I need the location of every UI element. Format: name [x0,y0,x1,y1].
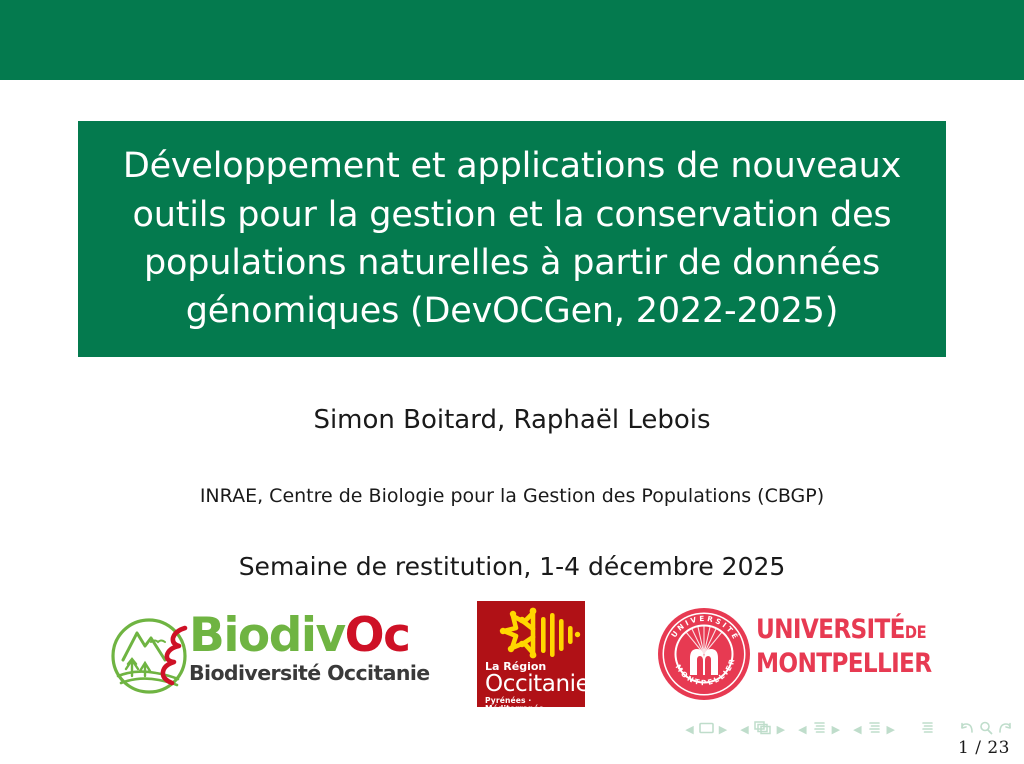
occitanie-name: Occitanie [485,673,581,696]
authors-line: Simon Boitard, Raphaël Lebois [0,405,1024,435]
section-prev-icon[interactable]: ◀ [798,724,806,735]
occitan-cross-icon [477,603,585,665]
section-next-icon[interactable]: ▶ [832,724,840,735]
page-title: Développement et applications de nouveau… [78,142,946,335]
montpellier-seal-icon: UNIVERSITÉ MONTPELLIER [656,606,752,702]
montpellier-wordmark: UNIVERSITÉDE MONTPELLIER [756,616,934,677]
frame-prev-icon[interactable]: ◀ [685,724,693,735]
section-lines-icon[interactable] [812,721,827,738]
biodivoc-wordmark: BiodivOc Biodiversité Occitanie [189,612,434,685]
document-lines-icon[interactable] [867,721,882,738]
occitanie-wordmark: La Région Occitanie Pyrénées · Méditerra… [485,661,581,714]
back-arrow-icon[interactable] [960,721,975,738]
header-band [0,0,1024,80]
nav-group-history[interactable] [960,721,1012,738]
montpellier-word-line1: UNIVERSITÉDE [756,616,909,643]
event-date-line: Semaine de restitution, 1-4 décembre 202… [0,552,1024,581]
montpellier-word-line2: MONTPELLIER [756,650,909,677]
affiliation-line: INRAE, Centre de Biologie pour la Gestio… [0,485,1024,507]
nav-group-document[interactable]: ◀ ▶ [853,721,895,738]
biodivoc-tagline: Biodiversité Occitanie [189,661,434,685]
biodivoc-name: BiodivOc [189,612,434,660]
subsection-prev-icon[interactable]: ◀ [740,724,748,735]
document-lines-standalone-icon[interactable] [920,721,935,738]
nav-group-standalone[interactable] [920,721,935,738]
region-occitanie-logo: La Région Occitanie Pyrénées · Méditerra… [477,601,585,707]
affiliation-detail: , Centre de Biologie pour la Gestion des… [257,485,824,507]
document-prev-icon[interactable]: ◀ [853,724,861,735]
frame-next-icon[interactable]: ▶ [719,724,727,735]
document-next-icon[interactable]: ▶ [887,724,895,735]
title-block: Développement et applications de nouveau… [78,121,946,357]
forward-arrow-icon[interactable] [997,721,1012,738]
affiliation-institute: INRAE [200,485,257,507]
biodivoc-logo: BiodivOc Biodiversité Occitanie [107,608,432,704]
biodivoc-emblem-icon [107,614,191,698]
biodivoc-name-green: Biodiv [189,608,345,663]
beamer-navigation-bar[interactable]: ◀ ▶ ◀ ▶ ◀ [685,718,1012,740]
nav-group-subsection[interactable]: ◀ ▶ [740,721,785,738]
subsection-next-icon[interactable]: ▶ [777,724,785,735]
search-icon[interactable] [979,721,993,738]
biodivoc-name-red: Oc [345,608,410,663]
nav-group-section[interactable]: ◀ ▶ [798,721,840,738]
montpellier-universite: UNIVERSITÉ [756,614,905,645]
frame-icon[interactable] [699,721,714,737]
montpellier-de: DE [905,623,926,643]
occitanie-subtitle: Pyrénées · Méditerranée [485,697,581,714]
page-indicator: 1 / 23 [958,738,1010,758]
nav-group-frame[interactable]: ◀ ▶ [685,721,727,737]
slides-stack-icon[interactable] [754,721,772,738]
universite-montpellier-logo: UNIVERSITÉ MONTPELLIER UNIVERSITÉDE MONT… [656,604,931,704]
logo-strip: BiodivOc Biodiversité Occitanie [0,598,1024,710]
